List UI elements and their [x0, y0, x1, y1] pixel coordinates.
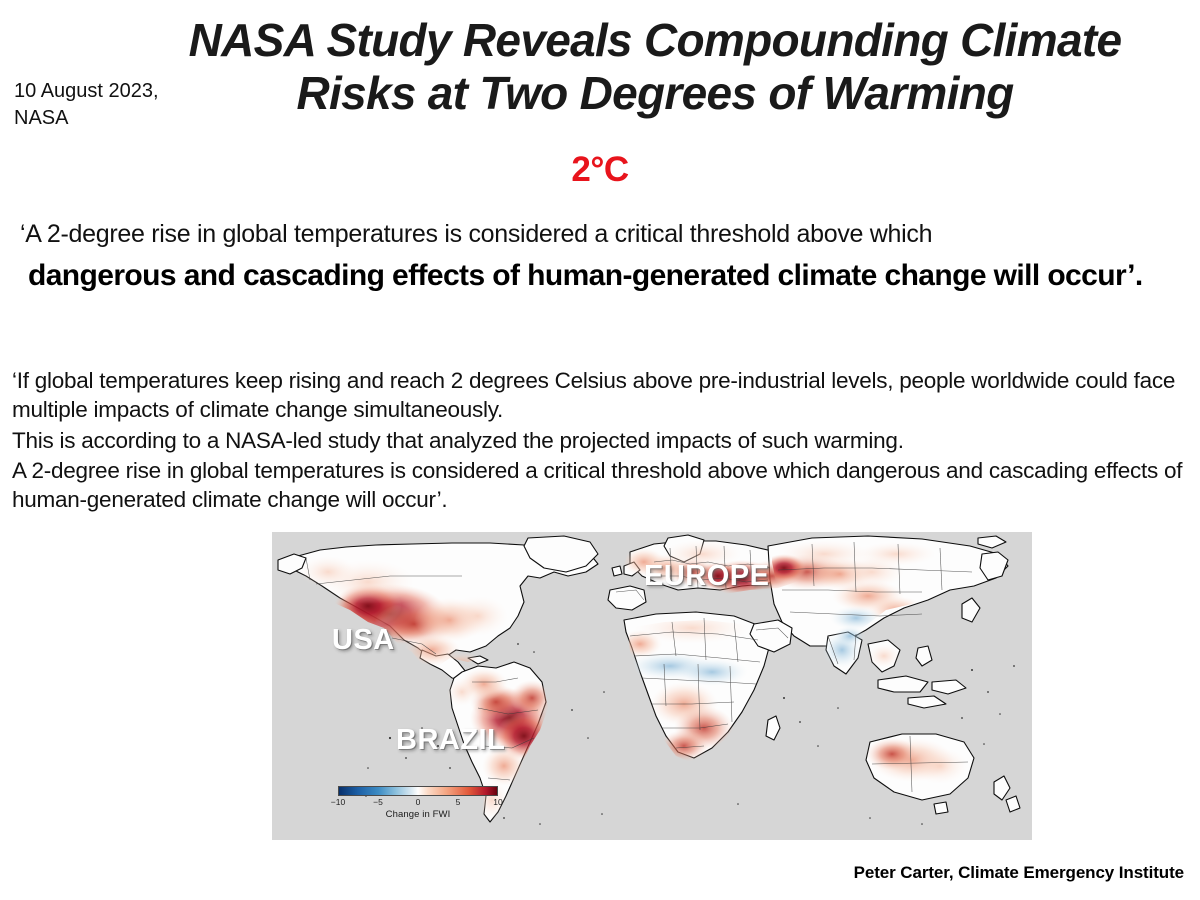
footer-credit: Peter Carter, Climate Emergency Institut…: [854, 863, 1184, 883]
quote-block: ‘A 2-degree rise in global temperatures …: [20, 218, 1180, 297]
colorbar-tick-labels: −10 −5 0 5 10: [338, 797, 498, 810]
colorbar-tick-neg5: −5: [373, 797, 383, 807]
body-text: ‘If global temperatures keep rising and …: [12, 366, 1187, 515]
quote-lead-text: ‘A 2-degree rise in global temperatures …: [20, 218, 1180, 250]
world-map-figure: USA BRAZIL EUROPE −10 −5 0 5 10 Change i…: [272, 532, 1032, 840]
colorbar-tick-pos5: 5: [456, 797, 461, 807]
colorbar-tick-max: 10: [493, 797, 502, 807]
map-colorbar: −10 −5 0 5 10 Change in FWI: [338, 786, 498, 820]
colorbar-tick-zero: 0: [416, 797, 421, 807]
colorbar-caption: Change in FWI: [338, 809, 498, 820]
colorbar-gradient-bar: [338, 786, 498, 796]
dateline: 10 August 2023, NASA: [14, 78, 159, 132]
degree-heading: 2°C: [0, 150, 1200, 190]
body-paragraph-3: A 2-degree rise in global temperatures i…: [12, 456, 1187, 515]
slide-canvas: NASA Study Reveals Compounding Climate R…: [0, 0, 1200, 900]
quote-strong-text: dangerous and cascading effects of human…: [20, 256, 1180, 297]
colorbar-tick-min: −10: [331, 797, 345, 807]
page-title: NASA Study Reveals Compounding Climate R…: [150, 14, 1160, 121]
body-paragraph-1: ‘If global temperatures keep rising and …: [12, 366, 1187, 425]
body-paragraph-2: This is according to a NASA-led study th…: [12, 426, 1187, 455]
